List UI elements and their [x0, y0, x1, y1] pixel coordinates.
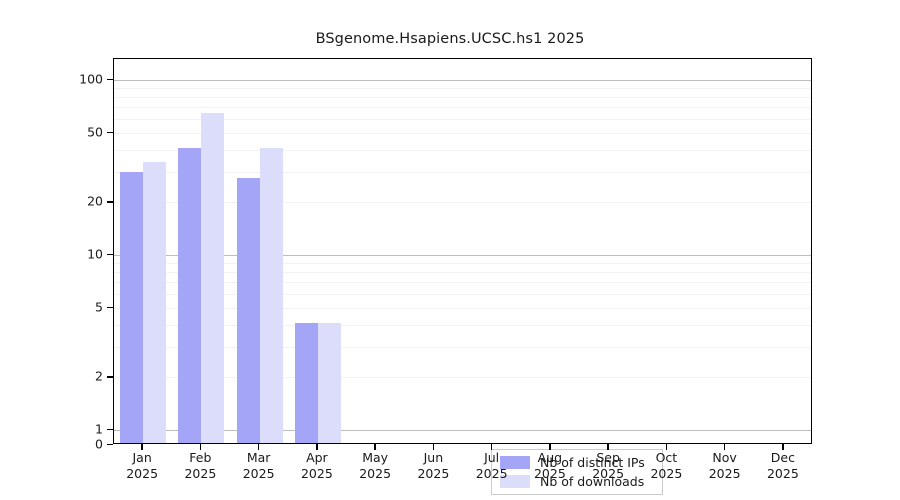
y-axis-tick-mark [107, 429, 113, 430]
x-tick-year: 2025 [695, 466, 755, 482]
x-tick-month: Mar [229, 450, 289, 466]
x-tick-year: 2025 [345, 466, 405, 482]
x-axis-tick-label: Apr2025 [287, 450, 347, 482]
x-tick-year: 2025 [112, 466, 172, 482]
bar-apr-downloads [318, 323, 341, 443]
x-axis-tick-label: Feb2025 [170, 450, 230, 482]
x-axis-tick-label: Mar2025 [229, 450, 289, 482]
x-axis-tick-label: Jan2025 [112, 450, 172, 482]
y-axis-tick-mark [107, 376, 113, 377]
y-axis-tick-label: 10 [58, 247, 103, 262]
y-axis-tick-label: 5 [58, 299, 103, 314]
x-tick-month: Feb [170, 450, 230, 466]
x-tick-month: Jun [403, 450, 463, 466]
x-tick-year: 2025 [229, 466, 289, 482]
bar-apr-distinct-ips [295, 323, 318, 443]
bar-mar-downloads [260, 148, 283, 443]
x-tick-month: Jan [112, 450, 172, 466]
x-axis-tick-label: May2025 [345, 450, 405, 482]
y-axis-tick-label: 1 [58, 422, 103, 437]
y-axis-tick-mark [107, 444, 113, 445]
x-tick-year: 2025 [636, 466, 696, 482]
x-tick-year: 2025 [287, 466, 347, 482]
bars-layer [114, 59, 811, 443]
y-axis-tick-mark [107, 307, 113, 308]
y-axis-tick-mark [107, 254, 113, 255]
x-tick-month: Nov [695, 450, 755, 466]
plot-area: Nb of distinct IPs Nb of downloads [113, 58, 812, 444]
x-tick-month: Sep [578, 450, 638, 466]
x-axis-tick-label: Dec2025 [753, 450, 813, 482]
bar-feb-distinct-ips [178, 148, 201, 443]
x-tick-month: Dec [753, 450, 813, 466]
y-axis-tick-label: 2 [58, 369, 103, 384]
bar-feb-downloads [201, 113, 224, 443]
x-axis-tick-label: Aug2025 [520, 450, 580, 482]
y-axis-tick-mark [107, 201, 113, 202]
x-axis-tick-label: Jul2025 [462, 450, 522, 482]
x-tick-month: Apr [287, 450, 347, 466]
x-axis-tick-label: Sep2025 [578, 450, 638, 482]
x-tick-year: 2025 [520, 466, 580, 482]
y-axis-tick-label: 50 [58, 124, 103, 139]
y-axis-tick-mark [107, 132, 113, 133]
x-tick-year: 2025 [170, 466, 230, 482]
bar-mar-distinct-ips [237, 178, 260, 443]
x-tick-year: 2025 [753, 466, 813, 482]
bar-jan-distinct-ips [120, 172, 143, 443]
x-axis-tick-label: Nov2025 [695, 450, 755, 482]
x-tick-year: 2025 [578, 466, 638, 482]
x-tick-month: Jul [462, 450, 522, 466]
bar-jan-downloads [143, 162, 166, 443]
x-tick-month: Aug [520, 450, 580, 466]
y-axis-tick-label: 0 [58, 437, 103, 452]
x-axis-tick-label: Jun2025 [403, 450, 463, 482]
y-axis-tick-label: 20 [58, 194, 103, 209]
x-tick-month: May [345, 450, 405, 466]
x-tick-month: Oct [636, 450, 696, 466]
y-axis-tick-mark [107, 79, 113, 80]
x-tick-year: 2025 [462, 466, 522, 482]
x-tick-year: 2025 [403, 466, 463, 482]
chart-title: BSgenome.Hsapiens.UCSC.hs1 2025 [0, 31, 900, 47]
chart-canvas: BSgenome.Hsapiens.UCSC.hs1 2025 Nb of di… [0, 0, 900, 500]
y-axis-tick-label: 100 [58, 72, 103, 87]
x-axis-tick-label: Oct2025 [636, 450, 696, 482]
